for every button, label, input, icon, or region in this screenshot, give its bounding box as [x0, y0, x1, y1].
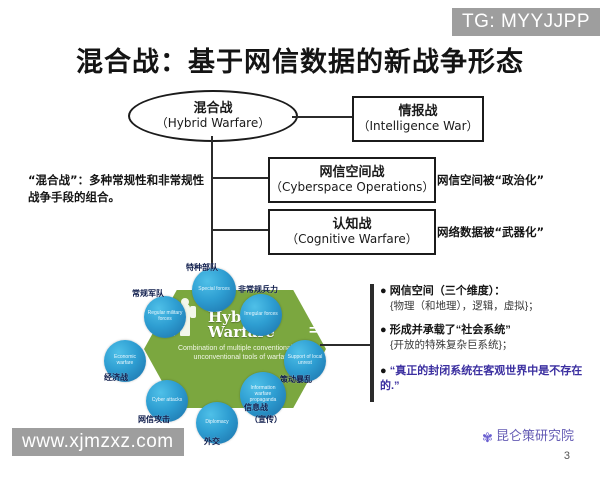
bullet-item: ● 形成并承载了“社会系统” {开放的特殊复杂巨系统}； [380, 323, 598, 352]
bullet-item: ● “真正的封闭系统在客观世界中是不存在的.” [380, 364, 598, 394]
node-cognitive-warfare: 认知战 （Cognitive Warfare） [268, 209, 436, 255]
bullet-dot-icon: ● [380, 285, 387, 297]
bullet-panel-rule [370, 284, 374, 402]
bubble-regular-military-forces-cn: 常规军队 [132, 288, 164, 299]
note-cyberspace-politicized: 网信空间被“政治化” [437, 172, 544, 188]
bubble-special-forces: Special forces [192, 268, 236, 312]
node-hybrid-warfare: 混合战 （Hybrid Warfare） [128, 90, 298, 142]
bubble-support-of-local-unrest-en: Support of local unrest [284, 355, 326, 367]
connector-flower-to-bullets [320, 344, 372, 346]
node-cognitive-warfare-en: （Cognitive Warfare） [286, 233, 418, 247]
infographic-equals-sign: = [309, 322, 318, 339]
bullet-item-main-text: “真正的封闭系统在客观世界中是不存在的.” [380, 365, 582, 392]
connector-trunk-to-cognitive [211, 229, 268, 231]
node-hybrid-warfare-cn: 混合战 [193, 102, 232, 117]
node-cyberspace-operations-cn: 网信空间战 [319, 166, 384, 181]
bullet-dot-icon: ● [380, 324, 387, 336]
page-title: 混合战：基于网信数据的新战争形态 [0, 40, 600, 79]
bullet-item-main-text: 形成并承载了“社会系统” [390, 324, 511, 336]
bullet-item-main: ● “真正的封闭系统在客观世界中是不存在的.” [380, 364, 598, 394]
left-annotation: “混合战”：多种常规性和非常规性战争手段的组合。 [28, 172, 208, 207]
bullet-item-sub: {开放的特殊复杂巨系统}； [390, 338, 598, 352]
hybrid-warfare-infographic: Hybrid Warfare = Combination of multiple… [104, 262, 366, 442]
bubble-irregular-forces-cn: 非常规兵力 [238, 284, 278, 295]
site-watermark: www.xjmzxz.com [12, 428, 184, 456]
connector-trunk-to-cyber [211, 177, 268, 179]
bubble-economic-warfare-en: Economic warfare [104, 355, 146, 367]
page-number: 3 [564, 450, 570, 462]
bubble-regular-military-forces: Regular military forces [144, 296, 186, 338]
node-cyberspace-operations: 网信空间战 （Cyberspace Operations） [268, 157, 436, 203]
node-intelligence-war-en: （Intelligence War） [357, 120, 478, 134]
bullet-item-main: ● 形成并承载了“社会系统” [380, 323, 598, 338]
bubble-special-forces-cn: 特种部队 [186, 262, 218, 273]
bullet-panel: ● 网信空间（三个维度）： {物理（和地理），逻辑，虚拟}； ● 形成并承载了“… [380, 284, 598, 400]
note-data-weaponized: 网络数据被“武器化” [437, 224, 544, 240]
node-cognitive-warfare-cn: 认知战 [332, 218, 371, 233]
slide-canvas: TG: MYYJJPP 混合战：基于网信数据的新战争形态 混合战 （Hybrid… [0, 0, 600, 480]
bullet-item: ● 网信空间（三个维度）： {物理（和地理），逻辑，虚拟}； [380, 284, 598, 313]
bubble-diplomacy-en: Diplomacy [203, 420, 230, 426]
bubble-information-warfare-propaganda-cn: 信息战 [244, 402, 268, 413]
brand-name: 昆仑策研究院 [496, 425, 574, 444]
person-backpack [190, 306, 196, 318]
bubble-cyber-attacks-en: Cyber attacks [150, 398, 185, 404]
bubble-regular-military-forces-en: Regular military forces [144, 311, 186, 323]
bubble-economic-warfare-cn: 经济战 [104, 372, 128, 383]
bullet-item-sub: {物理（和地理），逻辑，虚拟}； [390, 299, 598, 313]
node-hybrid-warfare-en: （Hybrid Warfare） [156, 117, 270, 131]
node-intelligence-war-cn: 情报战 [398, 105, 437, 120]
bubble-irregular-forces-en: Irregular forces [242, 312, 280, 318]
connector-root-to-intel [292, 116, 352, 118]
bubble-special-forces-en: Special forces [196, 287, 231, 293]
bubble-information-warfare-propaganda-cn2: （宣传） [250, 414, 282, 425]
bubble-irregular-forces: Irregular forces [240, 294, 282, 336]
bubble-support-of-local-unrest-cn: 策动暴乱 [280, 374, 312, 385]
bubble-cyber-attacks-cn: 网信攻击 [138, 414, 170, 425]
bullet-item-main: ● 网信空间（三个维度）： [380, 284, 598, 299]
brand-logo-icon: ✾ [482, 430, 496, 444]
bullet-item-main-text: 网信空间（三个维度）： [390, 285, 506, 297]
bullet-dot-icon: ● [380, 365, 387, 377]
bubble-diplomacy-cn: 外交 [204, 436, 220, 447]
node-cyberspace-operations-en: （Cyberspace Operations） [270, 181, 434, 195]
telegram-watermark: TG: MYYJJPP [452, 8, 600, 36]
node-intelligence-war: 情报战 （Intelligence War） [352, 96, 484, 142]
